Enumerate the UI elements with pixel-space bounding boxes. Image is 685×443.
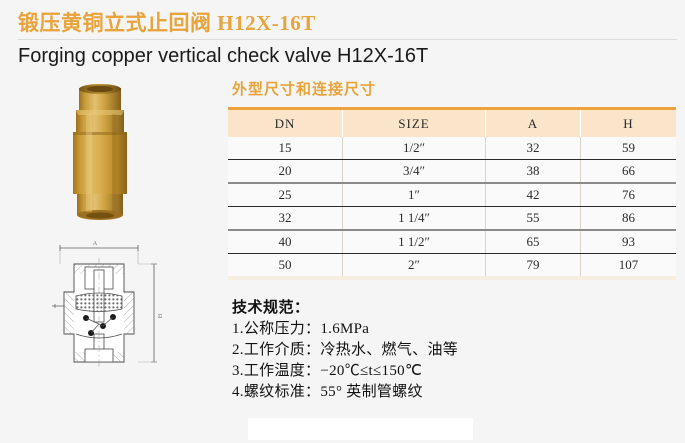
cell-size: 1 1/4″ [343, 207, 486, 231]
spec-item-medium: 2.工作介质：冷热水、燃气、油等 [232, 340, 676, 361]
cell-a: 42 [486, 183, 581, 207]
technical-drawing-container: A H [0, 230, 228, 400]
cell-h: 107 [581, 254, 677, 279]
specs-heading: 技术规范： [232, 298, 676, 319]
cell-a: 65 [486, 230, 581, 254]
content-area: A H [0, 70, 685, 403]
product-photo-container [0, 78, 228, 230]
cell-dn: 50 [228, 254, 343, 279]
cell-size: 1/2″ [343, 137, 486, 160]
cell-dn: 15 [228, 137, 343, 160]
dimensions-heading: 外型尺寸和连接尺寸 [228, 78, 676, 107]
cell-h: 59 [581, 137, 677, 160]
cell-dn: 25 [228, 183, 343, 207]
page-title-chinese: 锻压黄铜立式止回阀 H12X-16T [18, 10, 685, 36]
valve-cross-section-drawing: A H [28, 234, 200, 392]
cell-dn: 32 [228, 207, 343, 231]
dimensions-table-head: DN SIZE A H [228, 109, 676, 138]
cell-dn: 40 [228, 230, 343, 254]
page-title-english: Forging copper vertical check valve H12X… [18, 40, 685, 70]
page-header: 锻压黄铜立式止回阀 H12X-16T Forging copper vertic… [0, 0, 685, 70]
column-header-dn: DN [228, 109, 343, 138]
cell-h: 66 [581, 160, 677, 184]
table-row: 15 1/2″ 32 59 [228, 137, 676, 160]
table-row: 40 1 1/2″ 65 93 [228, 230, 676, 254]
dimensions-table-body: 15 1/2″ 32 59 20 3/4″ 38 66 25 1″ 42 76 [228, 137, 676, 278]
table-row: 50 2″ 79 107 [228, 254, 676, 279]
spec-item-pressure: 1.公称压力：1.6MPa [232, 319, 676, 340]
cell-h: 86 [581, 207, 677, 231]
spec-item-thread-standard: 4.螺纹标准：55° 英制管螺纹 [232, 382, 676, 403]
cell-size: 1″ [343, 183, 486, 207]
brass-check-valve-photo [62, 84, 138, 224]
column-header-a: A [486, 109, 581, 138]
dimensions-table: DN SIZE A H 15 1/2″ 32 59 20 3/4″ 38 66 [228, 107, 676, 280]
media-column: A H [0, 78, 228, 403]
table-header-row: DN SIZE A H [228, 109, 676, 138]
spec-item-temperature: 3.工作温度：−20℃≤t≤150℃ [232, 361, 676, 382]
cell-a: 32 [486, 137, 581, 160]
table-row: 32 1 1/4″ 55 86 [228, 207, 676, 231]
drawing-label-h: H [158, 313, 164, 318]
cell-h: 76 [581, 183, 677, 207]
cell-size: 2″ [343, 254, 486, 279]
footer-blank-area [248, 418, 473, 440]
cell-a: 79 [486, 254, 581, 279]
cell-size: 1 1/2″ [343, 230, 486, 254]
cell-a: 38 [486, 160, 581, 184]
specifications-column: 外型尺寸和连接尺寸 DN SIZE A H 15 1/2″ 32 59 20 [228, 78, 685, 403]
column-header-size: SIZE [343, 109, 486, 138]
cell-dn: 20 [228, 160, 343, 184]
table-row: 25 1″ 42 76 [228, 183, 676, 207]
technical-specifications: 技术规范： 1.公称压力：1.6MPa 2.工作介质：冷热水、燃气、油等 3.工… [228, 280, 676, 403]
cell-h: 93 [581, 230, 677, 254]
drawing-label-a: A [93, 241, 98, 247]
cell-size: 3/4″ [343, 160, 486, 184]
cell-a: 55 [486, 207, 581, 231]
column-header-h: H [581, 109, 677, 138]
table-row: 20 3/4″ 38 66 [228, 160, 676, 184]
